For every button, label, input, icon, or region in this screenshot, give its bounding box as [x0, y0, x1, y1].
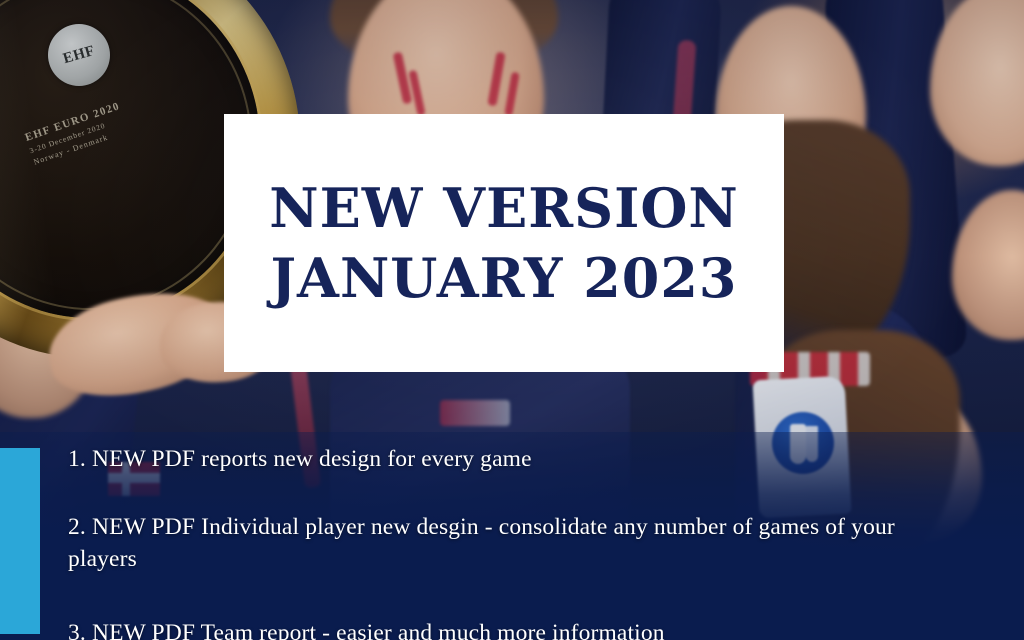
poster-root: EUROPEAN HANDBALL WOMEN EHF EHF EURO 202… — [0, 0, 1024, 640]
headline-line-2: JANUARY 2023 — [271, 243, 738, 313]
list-item: 2. NEW PDF Individual player new desgin … — [68, 512, 968, 576]
ehf-emblem-label: EHF — [61, 42, 97, 67]
cyan-accent-bar — [0, 448, 40, 634]
ehf-emblem-icon: EHF — [48, 24, 110, 86]
headline-line-1: NEW VERSION — [269, 173, 739, 243]
flag-accent — [440, 400, 510, 426]
feature-list: 1. NEW PDF reports new design for every … — [68, 444, 980, 640]
list-item: 1. NEW PDF reports new design for every … — [68, 444, 980, 476]
list-item: 3. NEW PDF Team report - easier and much… — [68, 618, 980, 640]
headline-card: NEW VERSION JANUARY 2023 — [224, 114, 784, 372]
